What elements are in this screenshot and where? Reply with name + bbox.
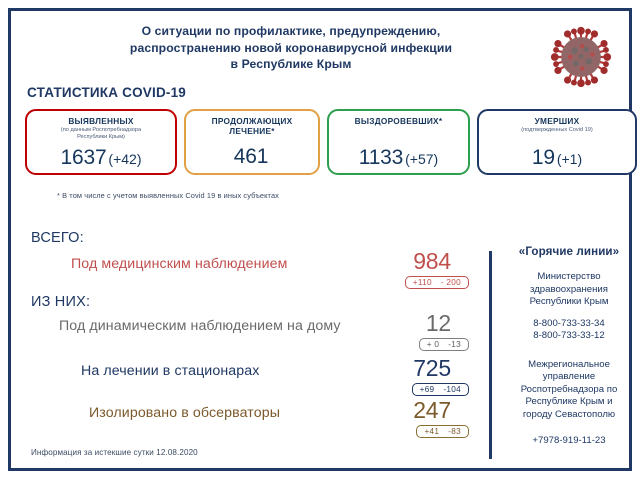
stat-card-recovered-delta: (+57) <box>405 151 438 167</box>
page-title-line-1: О ситуации по профилактике, предупрежден… <box>81 23 501 40</box>
hotline-org-rospotrebnadzor-line-4: Республике Крым и <box>499 396 639 409</box>
metric-row-home-observation: Под динамическим наблюдением на дому 12 … <box>51 318 491 360</box>
metric-value-home-observation: 12 <box>426 310 451 337</box>
stat-card-ongoing-treatment-value-group: 461 <box>186 145 318 169</box>
stat-cards-footnote: * В том числе с учетом выявленных Covid … <box>57 191 279 200</box>
stat-card-deceased-delta: (+1) <box>557 151 582 167</box>
hotline-phones-ministry: 8-800-733-33-34 8-800-733-33-12 <box>499 318 639 343</box>
stat-card-recovered-value: 1133 <box>359 146 403 169</box>
hotline-org-rospotrebnadzor-line-5: городу Севастополю <box>499 409 639 422</box>
metric-value-hospitals: 725 <box>413 355 451 382</box>
metric-label-observators: Изолировано в обсерваторы <box>89 405 280 421</box>
stat-card-deceased-value: 19 <box>532 146 555 169</box>
stat-card-recovered-title: ВЫЗДОРОВЕВШИХ* <box>355 116 443 126</box>
metric-badge-hospitals: +69-104 <box>412 383 469 396</box>
stat-card-ongoing-treatment-title-line-1: ПРОДОЛЖАЮЩИХ <box>212 116 293 126</box>
metric-row-observators: Изолировано в обсерваторы 247 +41-83 <box>51 405 491 447</box>
metric-value-observators: 247 <box>413 397 451 424</box>
stat-card-deceased-title: УМЕРШИХ <box>535 116 580 126</box>
page-title: О ситуации по профилактике, предупрежден… <box>81 23 501 73</box>
hotline-entry-rospotrebnadzor: Межрегиональное управление Роспотребнадз… <box>499 359 639 447</box>
hotline-org-ministry: Министерство здравоохранения Республики … <box>499 271 639 309</box>
stat-card-ongoing-treatment: ПРОДОЛЖАЮЩИХ ЛЕЧЕНИЕ* 461 <box>184 109 320 175</box>
hotlines-title: «Горячие линии» <box>499 245 639 258</box>
metric-value-medical-observation: 984 <box>413 248 451 275</box>
stat-card-detected-delta: (+42) <box>108 151 141 167</box>
covid-statistics-poster: О ситуации по профилактике, предупрежден… <box>0 0 640 482</box>
page-title-line-3: в Республике Крым <box>81 56 501 73</box>
metric-label-medical-observation: Под медицинским наблюдением <box>71 256 287 272</box>
stat-card-detected-subtitle: (по данным Роспотребнадзора Республики К… <box>61 127 141 141</box>
metric-badge-home-observation: + 0-13 <box>419 338 469 351</box>
hotline-org-ministry-line-1: Министерство <box>499 271 639 284</box>
metric-badge-plus-medical-observation: +110 <box>413 278 432 287</box>
stat-cards-row: ВЫЯВЛЕННЫХ (по данным Роспотребнадзора Р… <box>25 109 637 175</box>
page-title-line-2: распространению новой коронавирусной инф… <box>81 40 501 57</box>
stat-card-recovered: ВЫЗДОРОВЕВШИХ* 1133(+57) <box>327 109 470 175</box>
hotline-org-rospotrebnadzor-line-2: управление <box>499 371 639 384</box>
hotlines-panel: «Горячие линии» Министерство здравоохран… <box>499 245 639 453</box>
metric-badge-plus-observators: +41 <box>424 427 439 436</box>
stat-card-ongoing-treatment-value: 461 <box>234 145 268 168</box>
stat-card-detected-subtitle-line-1: (по данным Роспотребнадзора <box>61 127 141 134</box>
hotline-org-ministry-line-2: здравоохранения <box>499 284 639 297</box>
stat-card-recovered-value-group: 1133(+57) <box>329 146 468 170</box>
metric-badge-minus-hospitals: -104 <box>443 385 461 394</box>
poster-frame: О ситуации по профилактике, предупрежден… <box>8 8 632 471</box>
hotline-phones-rospotrebnadzor: +7978-919-11-23 <box>499 435 639 447</box>
stat-card-deceased: УМЕРШИХ (подтвержденных Covid 19) 19(+1) <box>477 109 637 175</box>
hotline-org-rospotrebnadzor-line-3: Роспотребнадзора по <box>499 384 639 397</box>
hotline-org-rospotrebnadzor-line-1: Межрегиональное <box>499 359 639 372</box>
metric-badge-minus-home-observation: -13 <box>448 340 461 349</box>
hotline-org-rospotrebnadzor: Межрегиональное управление Роспотребнадз… <box>499 359 639 422</box>
totals-label: ВСЕГО: <box>31 230 84 246</box>
metric-label-hospitals: На лечении в стационарах <box>81 363 259 379</box>
metric-badge-plus-hospitals: +69 <box>420 385 435 394</box>
stat-card-deceased-subtitle: (подтвержденных Covid 19) <box>521 127 592 134</box>
metric-badge-minus-medical-observation: - 200 <box>441 278 461 287</box>
stat-card-detected: ВЫЯВЛЕННЫХ (по данным Роспотребнадзора Р… <box>25 109 177 175</box>
hotline-phone-ministry-2[interactable]: 8-800-733-33-12 <box>499 330 639 342</box>
metric-badge-medical-observation: +110- 200 <box>405 276 469 289</box>
stat-card-detected-value: 1637 <box>61 146 107 169</box>
stat-card-detected-title: ВЫЯВЛЕННЫХ <box>68 116 133 126</box>
metric-row-medical-observation: Под медицинским наблюдением 984 +110- 20… <box>51 256 491 298</box>
hotline-phone-rospotrebnadzor-1[interactable]: +7978-919-11-23 <box>499 435 639 447</box>
stat-card-detected-value-group: 1637(+42) <box>27 146 175 170</box>
coronavirus-icon <box>549 25 613 89</box>
stat-card-ongoing-treatment-title: ПРОДОЛЖАЮЩИХ ЛЕЧЕНИЕ* <box>212 116 293 136</box>
metric-label-home-observation: Под динамическим наблюдением на дому <box>59 318 341 334</box>
stat-card-detected-subtitle-line-2: Республики Крым) <box>61 134 141 141</box>
hotline-phone-ministry-1[interactable]: 8-800-733-33-34 <box>499 318 639 330</box>
hotline-org-ministry-line-3: Республики Крым <box>499 296 639 309</box>
vertical-divider <box>489 251 492 459</box>
metric-badge-observators: +41-83 <box>416 425 469 438</box>
metric-badge-minus-observators: -83 <box>448 427 461 436</box>
footer-info: Информация за истекшие сутки 12.08.2020 <box>31 448 198 457</box>
hotline-entry-ministry: Министерство здравоохранения Республики … <box>499 271 639 343</box>
metric-badge-plus-home-observation: + 0 <box>427 340 440 349</box>
stat-card-ongoing-treatment-title-line-2: ЛЕЧЕНИЕ* <box>212 126 293 136</box>
stat-card-deceased-value-group: 19(+1) <box>479 146 635 170</box>
stats-section-label: СТАТИСТИКА COVID-19 <box>27 85 186 100</box>
